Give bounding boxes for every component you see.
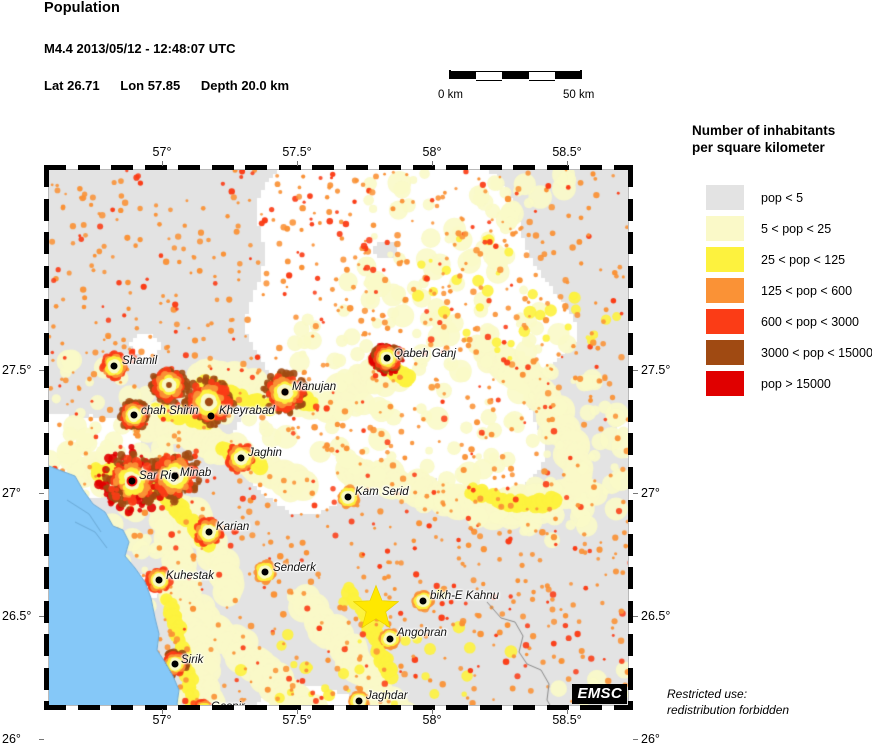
city-marker-dot (345, 494, 352, 501)
page-title: Population (44, 0, 120, 16)
city-marker-dot (156, 577, 163, 584)
latitude-tick-label: 27° (641, 486, 660, 500)
map-border-dash (44, 701, 49, 710)
legend-color-swatch (706, 371, 744, 396)
map-border-dash (346, 705, 368, 710)
legend-color-swatch (706, 216, 744, 241)
map-border-dash (628, 165, 633, 187)
latitude-tick-label: 26.5° (641, 609, 670, 623)
legend-item: pop > 15000 (692, 368, 872, 399)
scale-bar-segment (476, 71, 503, 81)
scale-bar-segment (502, 71, 529, 79)
latitude-tick-mark (39, 739, 44, 740)
legend-item: 600 < pop < 3000 (692, 306, 872, 337)
latitude-tick-label: 26.5° (2, 609, 31, 623)
map-border-dash (628, 333, 633, 355)
map-border-dash (44, 232, 49, 254)
map-border-dash (178, 165, 200, 170)
map-border-dash (379, 705, 401, 710)
city-marker-dot (356, 698, 363, 705)
map-border-dash (580, 705, 602, 710)
longitude-tick-mark (297, 709, 298, 714)
longitude-tick-mark (162, 709, 163, 714)
longitude-tick-label: 58° (423, 145, 442, 159)
latitude-tick-label: 27.5° (641, 363, 670, 377)
city-marker-dot (262, 569, 269, 576)
city-marker-dot (282, 389, 289, 396)
legend-items: pop < 55 < pop < 2525 < pop < 125125 < p… (692, 182, 872, 399)
scale-bar-segment (449, 71, 476, 79)
map-border-dash (628, 400, 633, 422)
map-border-dash (628, 433, 633, 455)
map-border-dash (446, 705, 468, 710)
map-frame[interactable]: Shamilchah ShirinKheyrabadManujanQabeh G… (44, 165, 633, 710)
map-border-dash (44, 400, 49, 422)
map-border-dash (44, 567, 49, 589)
longitude-tick-label: 58.5° (552, 713, 581, 727)
legend-item: 5 < pop < 25 (692, 213, 872, 244)
map-border-dash (145, 705, 167, 710)
map-border-dash (145, 165, 167, 170)
map-border-dash (212, 165, 234, 170)
map-border-dash (446, 165, 468, 170)
map-border-dash (178, 705, 200, 710)
latitude-tick-mark (39, 616, 44, 617)
scale-bar-cap (449, 70, 451, 78)
city-marker-dot (384, 355, 391, 362)
map-border-dash (44, 467, 49, 489)
map-border-dash (628, 199, 633, 221)
map-border-dash (44, 601, 49, 623)
map-border-dash (628, 668, 633, 690)
legend-item-label: pop > 15000 (761, 377, 831, 391)
map-border-dash (44, 634, 49, 656)
map-border-dash (628, 601, 633, 623)
latitude-tick-mark (39, 493, 44, 494)
legend-color-swatch (706, 185, 744, 210)
legend-item-label: 25 < pop < 125 (761, 253, 845, 267)
legend-item: 125 < pop < 600 (692, 275, 872, 306)
legend: Number of inhabitants per square kilomet… (692, 122, 872, 399)
map-border-dash (78, 165, 100, 170)
city-label: Kam Serid (355, 486, 409, 498)
city-label: Sirik (181, 654, 203, 666)
longitude-tick-mark (432, 709, 433, 714)
longitude-tick-mark (567, 161, 568, 166)
map-border-dash (44, 165, 49, 187)
depth-value: Depth 20.0 km (201, 78, 289, 93)
scale-bar-cap (580, 70, 582, 78)
map-border-dash (628, 299, 633, 321)
latitude-tick-mark (633, 370, 638, 371)
map-border-dash (628, 467, 633, 489)
map-border-dash (44, 199, 49, 221)
legend-item-label: 125 < pop < 600 (761, 284, 852, 298)
map-border-dash (245, 165, 267, 170)
map-canvas[interactable]: Shamilchah ShirinKheyrabadManujanQabeh G… (49, 170, 628, 705)
map-border-dash (628, 634, 633, 656)
city-label: Minab (180, 467, 211, 479)
city-label: Jaghin (248, 447, 282, 459)
map-border-dash (44, 333, 49, 355)
map-border-dash (44, 668, 49, 690)
longitude-tick-mark (297, 161, 298, 166)
longitude-tick-label: 57.5° (282, 713, 311, 727)
city-label: chah Shirin (141, 405, 199, 417)
longitude-value: Lon 57.85 (120, 78, 180, 93)
latitude-tick-mark (633, 739, 638, 740)
map-border-dash (547, 165, 569, 170)
map-border-dash (44, 366, 49, 388)
legend-item-label: 5 < pop < 25 (761, 222, 831, 236)
legend-color-swatch (706, 247, 744, 272)
latitude-tick-mark (633, 616, 638, 617)
scale-bar-segment (529, 71, 556, 81)
epicenter-star-icon (353, 585, 399, 634)
map-border-dash (346, 165, 368, 170)
city-label: Shamil (122, 355, 157, 367)
map-border-dash (628, 567, 633, 589)
city-label: Kuhestak (166, 570, 214, 582)
restricted-use-notice: Restricted use: redistribution forbidden (667, 686, 789, 718)
map-border-dash (78, 705, 100, 710)
latitude-tick-label: 27° (2, 486, 21, 500)
city-label: Karian (216, 521, 249, 533)
map-border-dash (44, 299, 49, 321)
emsc-watermark: EMSC (572, 684, 627, 704)
legend-item: 25 < pop < 125 (692, 244, 872, 275)
map-border-dash (44, 500, 49, 522)
map-border-dash (312, 165, 334, 170)
map-border-dash (44, 266, 49, 288)
city-marker-dot (129, 478, 136, 485)
restricted-line2: redistribution forbidden (667, 702, 789, 718)
latitude-tick-label: 27.5° (2, 363, 31, 377)
latitude-tick-label: 26° (641, 732, 660, 746)
map-border-dash (111, 165, 133, 170)
longitude-tick-label: 58.5° (552, 145, 581, 159)
map-border-dash (628, 534, 633, 556)
map-border-dash (628, 266, 633, 288)
latitude-tick-mark (39, 370, 44, 371)
longitude-tick-label: 58° (423, 713, 442, 727)
city-marker-dot (387, 636, 394, 643)
city-marker-dot (172, 473, 179, 480)
legend-item: pop < 5 (692, 182, 872, 213)
restricted-line1: Restricted use: (667, 686, 789, 702)
city-marker-dot (111, 363, 118, 370)
map-border-dash (212, 705, 234, 710)
map-border-dash (312, 705, 334, 710)
legend-item-label: pop < 5 (761, 191, 803, 205)
map-border-dash (480, 165, 502, 170)
scale-bar-max-label: 50 km (563, 89, 594, 101)
latitude-tick-mark (633, 493, 638, 494)
legend-color-swatch (706, 278, 744, 303)
city-marker-dot (238, 455, 245, 462)
scale-bar (449, 71, 582, 79)
event-summary: M4.4 2013/05/12 - 12:48:07 UTC (44, 41, 236, 56)
legend-item-label: 600 < pop < 3000 (761, 315, 859, 329)
map-border-dash (245, 705, 267, 710)
map-border-dash (580, 165, 602, 170)
legend-title-line2: per square kilometer (692, 139, 872, 156)
map-border-dash (480, 705, 502, 710)
map-border-dash (628, 232, 633, 254)
legend-item: 3000 < pop < 15000 (692, 337, 872, 368)
city-label: Kheyrabad (219, 405, 275, 417)
map-border-dash (513, 165, 535, 170)
latitude-tick-label: 26° (2, 732, 21, 746)
longitude-tick-label: 57° (153, 713, 172, 727)
scale-bar-segment (555, 71, 582, 79)
city-marker-dot (420, 598, 427, 605)
longitude-tick-mark (162, 161, 163, 166)
city-marker-dot (206, 529, 213, 536)
city-label: Qabeh Ganj (394, 348, 456, 360)
map-border-dash (628, 701, 633, 710)
city-marker-dot (131, 412, 138, 419)
legend-color-swatch (706, 309, 744, 334)
map-border-dash (628, 500, 633, 522)
longitude-tick-label: 57° (153, 145, 172, 159)
city-label: Manujan (292, 381, 336, 393)
scale-bar-min-label: 0 km (438, 89, 463, 101)
longitude-tick-mark (432, 161, 433, 166)
map-border-dash (547, 705, 569, 710)
city-marker-layer: Shamilchah ShirinKheyrabadManujanQabeh G… (49, 170, 628, 705)
legend-item-label: 3000 < pop < 15000 (761, 346, 872, 360)
legend-title-line1: Number of inhabitants (692, 122, 872, 139)
city-label: Angohran (397, 627, 447, 639)
city-label: Senderk (273, 562, 316, 574)
map-border-dash (379, 165, 401, 170)
longitude-tick-label: 57.5° (282, 145, 311, 159)
event-location-line: Lat 26.71 Lon 57.85 Depth 20.0 km (44, 78, 306, 93)
city-label: bikh-E Kahnu (430, 590, 499, 602)
legend-title: Number of inhabitants per square kilomet… (692, 122, 872, 156)
latitude-value: Lat 26.71 (44, 78, 100, 93)
map-border-dash (513, 705, 535, 710)
city-marker-dot (208, 413, 215, 420)
map-border-dash (111, 705, 133, 710)
city-label: Jaghdar (366, 690, 408, 702)
map-border-dash (44, 433, 49, 455)
city-marker-dot (172, 661, 179, 668)
longitude-tick-mark (567, 709, 568, 714)
legend-color-swatch (706, 340, 744, 365)
map-border-dash (44, 534, 49, 556)
